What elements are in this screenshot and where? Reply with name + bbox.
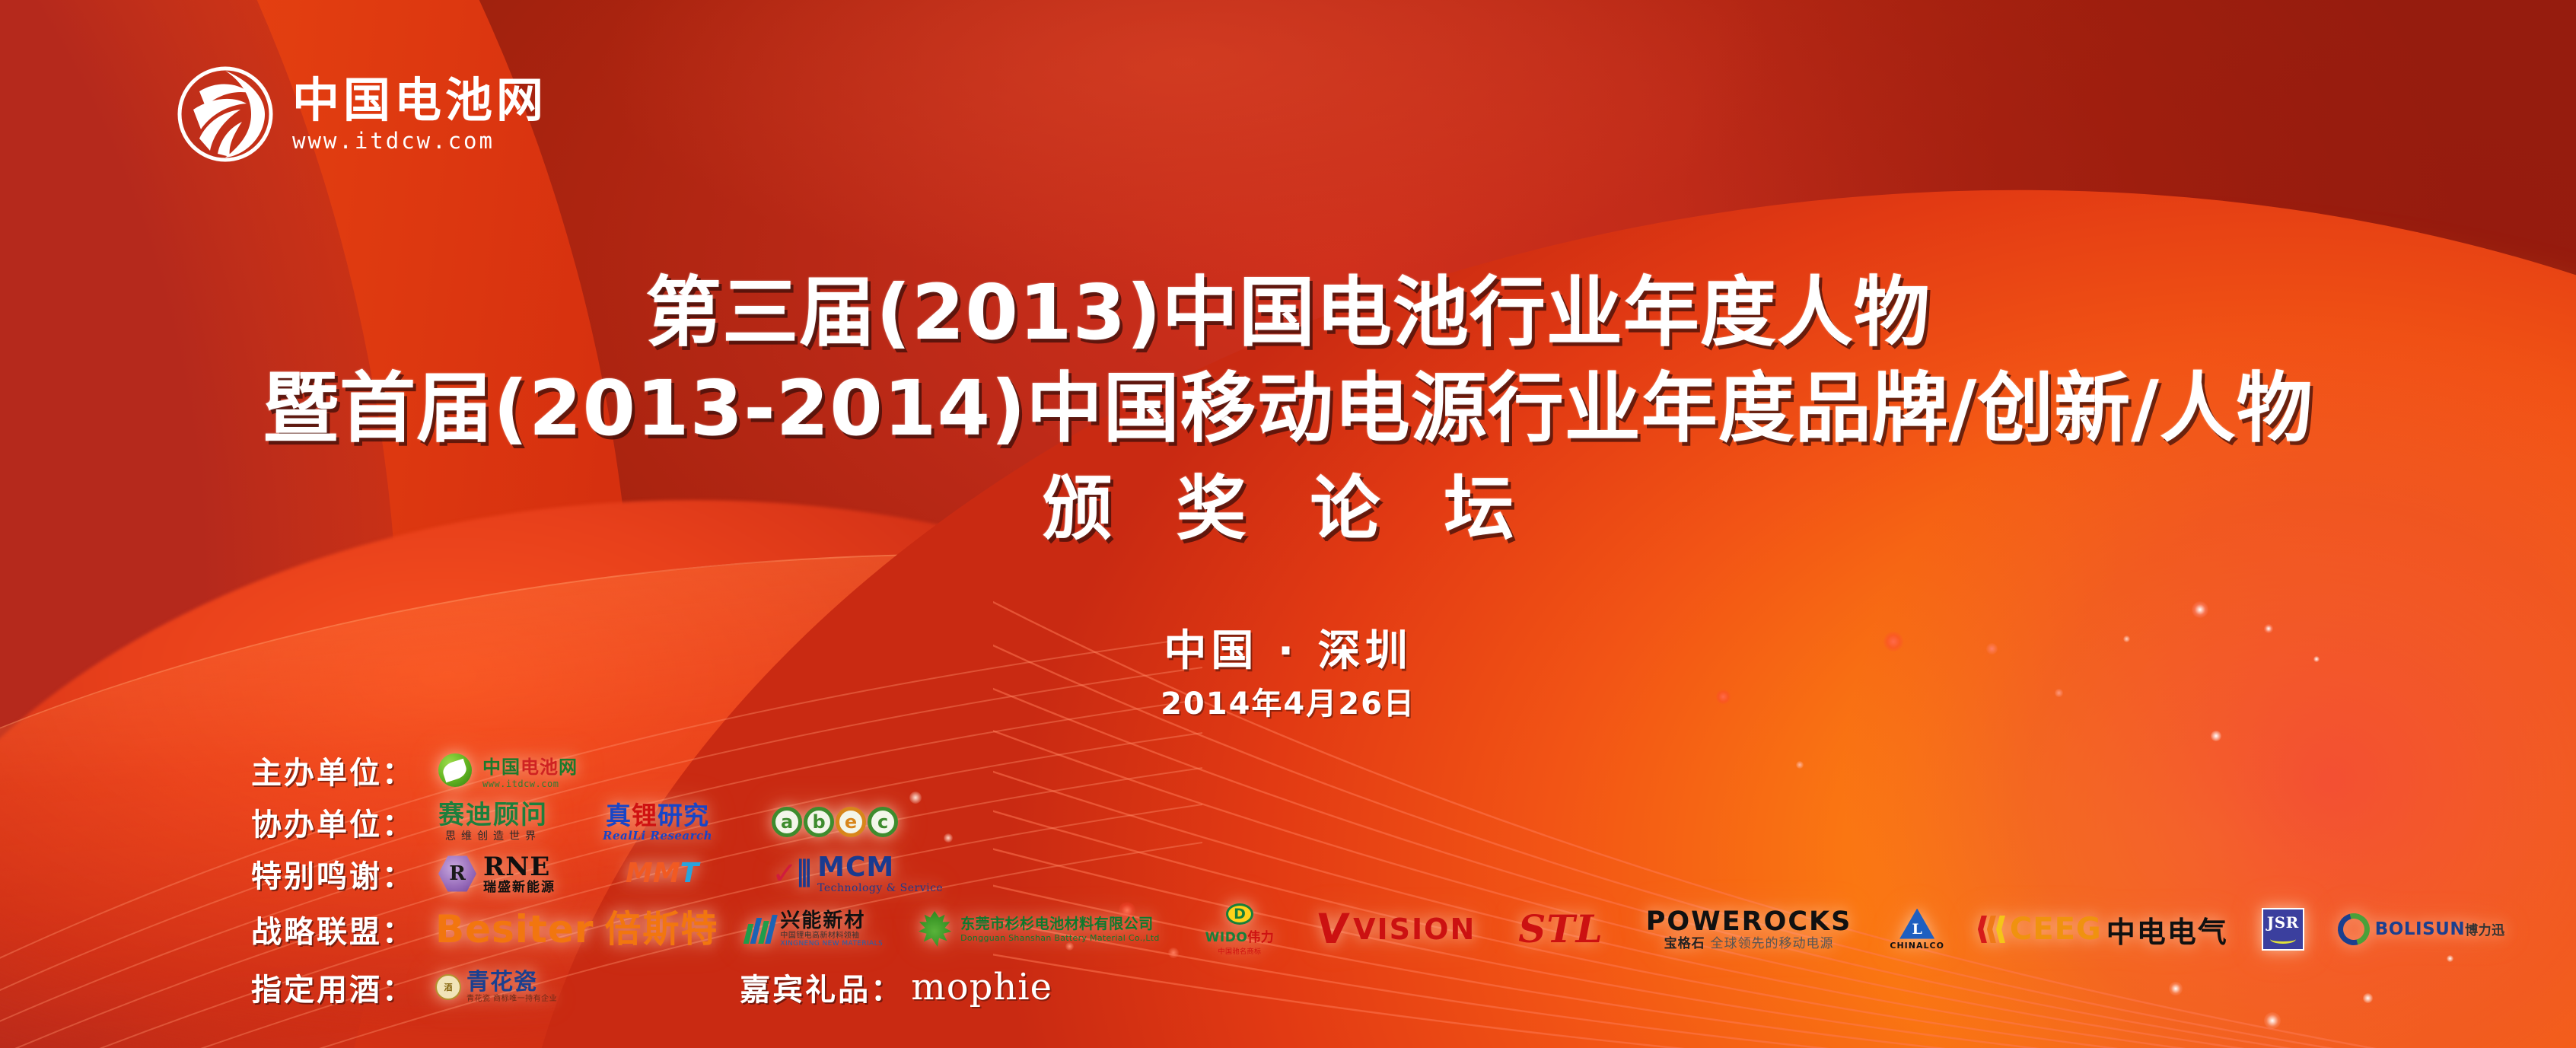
guest-gift-label: 嘉宾礼品： (740, 965, 903, 1009)
logo-mmt-name: MMT (626, 860, 699, 887)
title-line-1: 第三届(2013)中国电池行业年度人物 (0, 268, 2576, 358)
logo-xingneng-en: XINGNENG NEW MATERIALS (780, 941, 883, 948)
logo-besiter[interactable]: Besiter (435, 908, 594, 951)
logo-mcm-name: MCM (817, 854, 894, 881)
event-location: 中国 · 深圳 (0, 616, 2576, 678)
xingneng-bars-icon (746, 915, 774, 944)
mcm-check-icon: ✓⫼ (772, 856, 811, 891)
shanshan-leaf-icon (916, 911, 953, 948)
logo-mophie-name: mophie (911, 969, 1052, 1005)
logo-saidi-consulting[interactable]: 赛迪顾问 思维创造世界 (438, 801, 548, 843)
jsr-arc-icon (2270, 935, 2296, 944)
abec-letter: c (868, 807, 898, 837)
logo-realli-en: RealLi Research (603, 830, 712, 842)
logo-xingneng[interactable]: 兴能新材 中国锂电高新材料领袖 XINGNENG NEW MATERIALS (746, 908, 883, 951)
logo-wido[interactable]: D WIDO伟力 中国驰名商标 (1205, 908, 1275, 951)
logo-abec[interactable]: a b e c (772, 801, 898, 843)
sponsor-row-special-thanks: 特别鸣谢： RNE 瑞盛新能源 MMT ✓⫼ M (251, 848, 2519, 900)
logo-wido-tagline: 中国驰名商标 (1218, 946, 1261, 956)
abec-letter: e (836, 807, 866, 837)
poster-backdrop: 中国电池网 www.itdcw.com 第三届(2013)中国电池行业年度人物 … (0, 0, 2576, 1048)
logo-saidi-tagline: 思维创造世界 (445, 831, 541, 842)
logo-itdcw[interactable]: 中国电池网 www.itdcw.com (438, 749, 578, 792)
logo-vision[interactable]: V VISION (1317, 908, 1476, 951)
logo-bolisun[interactable]: BOLISUN博力迅 (2338, 908, 2505, 951)
logo-realli-name: 真锂研究 (606, 803, 709, 828)
logo-qinghuaci[interactable]: 酒 青花瓷 青花瓷 商标唯一持有企业 (435, 966, 557, 1008)
logo-rne-name: RNE (483, 854, 550, 880)
brand-url: www.itdcw.com (292, 130, 547, 152)
logo-powerocks[interactable]: POWEROCKS 宝格石 全球领先的移动电源 (1646, 908, 1852, 951)
logo-shanshan-cn: 东莞市杉杉电池材料有限公司 (960, 917, 1154, 932)
logo-qinghuaci-tagline: 青花瓷 商标唯一持有企业 (466, 995, 557, 1003)
sponsor-row-designated-liquor: 指定用酒： 酒 青花瓷 青花瓷 商标唯一持有企业 嘉宾礼品： mophie (251, 959, 2519, 1015)
abec-letter: a (772, 807, 802, 837)
sponsor-row-strategic-alliance: 战略联盟： Besiter 倍斯特 兴能新材 中国锂电高新材料领袖 XINGNE… (251, 900, 2519, 959)
logo-powerocks-name: POWEROCKS (1646, 909, 1852, 935)
logo-stl-name: STL (1518, 910, 1603, 948)
title-line-3: 颁 奖 论 坛 (0, 467, 2576, 551)
logo-itdcw-url: www.itdcw.com (482, 779, 559, 789)
ceeg-chevron-icon (1978, 916, 2005, 943)
sponsor-row-label: 指定用酒： (251, 965, 428, 1009)
logo-rne-cn: 瑞盛新能源 (483, 881, 556, 894)
logo-ceeg-cn: 中电电气 (2106, 909, 2228, 951)
event-date: 2014年4月26日 (0, 679, 2576, 723)
site-logo[interactable]: 中国电池网 www.itdcw.com (177, 65, 547, 163)
logo-itdcw-cn: 中国电池网 (482, 752, 578, 779)
logo-chinalco[interactable]: L CHINALCO (1890, 908, 1944, 951)
logo-vision-name: VISION (1353, 915, 1476, 944)
qinghuaci-seal-icon: 酒 (435, 974, 461, 1000)
logo-shanshan[interactable]: 东莞市杉杉电池材料有限公司 Dongguan Shanshan Battery … (916, 908, 1160, 951)
logo-jsr[interactable]: JSR (2262, 908, 2304, 951)
rne-hex-icon (438, 855, 476, 893)
chinalco-triangle-icon: L (1899, 909, 1934, 939)
itdcw-globe-icon (177, 65, 274, 163)
jsr-box-icon: JSR (2262, 908, 2304, 951)
sponsor-row-organizer: 主办单位： 中国电池网 www.itdcw.com (251, 744, 2519, 796)
logo-xingneng-name: 兴能新材 (780, 911, 865, 931)
sponsor-row-label: 主办单位： (251, 748, 428, 792)
logo-qinghuaci-name: 青花瓷 (466, 971, 537, 994)
sponsor-row-label: 战略联盟： (251, 907, 428, 951)
event-title-block: 第三届(2013)中国电池行业年度人物 暨首届(2013-2014)中国移动电源… (0, 268, 2576, 551)
logo-bolisun-name: BOLISUN博力迅 (2375, 921, 2505, 938)
logo-powerocks-cn: 宝格石 全球领先的移动电源 (1664, 938, 1834, 951)
logo-rne[interactable]: RNE 瑞盛新能源 (438, 852, 556, 895)
logo-shanshan-en: Dongguan Shanshan Battery Material Co.,L… (960, 934, 1160, 942)
logo-besiter-name: Besiter (435, 910, 594, 948)
logo-stl[interactable]: STL (1518, 908, 1603, 951)
logo-besiter-cn-name: 倍斯特 (604, 911, 718, 948)
logo-mcm[interactable]: ✓⫼ MCM Technology & Service (772, 852, 943, 895)
itdcw-leaf-icon (438, 753, 472, 787)
logo-besiter-cn[interactable]: 倍斯特 (604, 908, 718, 951)
title-line-2: 暨首届(2013-2014)中国移动电源行业年度品牌/创新/人物 (0, 364, 2576, 454)
logo-mcm-tagline: Technology & Service (817, 883, 943, 894)
logo-ceeg[interactable]: CEEG 中电电气 (1978, 908, 2228, 951)
wido-badge-icon: D (1226, 903, 1253, 925)
logo-realli-research[interactable]: 真锂研究 RealLi Research (603, 801, 712, 843)
logo-mmt[interactable]: MMT (626, 852, 699, 895)
brand-name-cn: 中国电池网 (292, 77, 547, 124)
sponsor-row-coorganizer: 协办单位： 赛迪顾问 思维创造世界 真锂研究 RealLi Research a (251, 796, 2519, 848)
bolisun-ring-icon (2332, 907, 2375, 951)
logo-chinalco-name: CHINALCO (1890, 941, 1944, 951)
sponsor-block: 主办单位： 中国电池网 www.itdcw.com 协办单位： 赛迪顾问 思 (251, 744, 2519, 1015)
logo-xingneng-tagline: 中国锂电高新材料领袖 (780, 932, 859, 940)
logo-wido-name: WIDO伟力 (1205, 926, 1275, 945)
logo-jsr-name: JSR (2267, 915, 2299, 930)
sponsor-row-label: 特别鸣谢： (251, 852, 428, 896)
logo-mophie[interactable]: mophie (911, 966, 1052, 1008)
vision-v-icon: V (1315, 911, 1351, 948)
logo-ceeg-name: CEEG (2010, 912, 2102, 947)
logo-saidi-name: 赛迪顾问 (438, 802, 548, 828)
abec-letter: b (804, 807, 834, 837)
sponsor-row-label: 协办单位： (251, 800, 428, 844)
